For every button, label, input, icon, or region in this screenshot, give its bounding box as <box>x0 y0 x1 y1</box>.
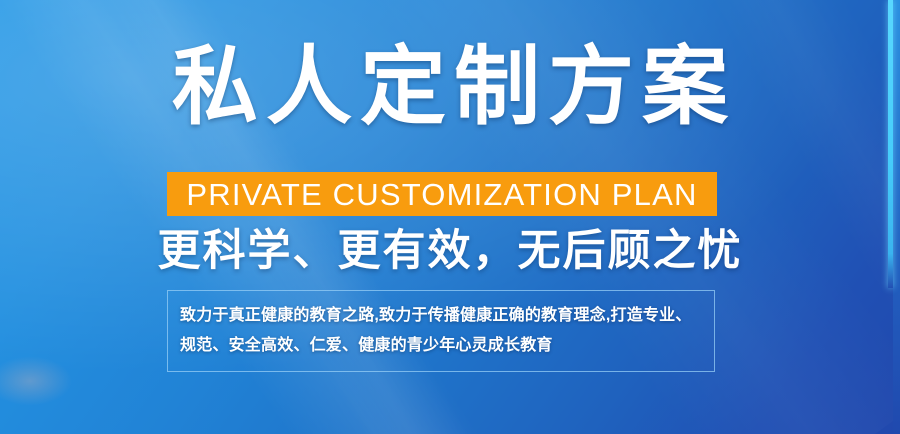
description-text: 致力于真正健康的教育之路,致力于传播健康正确的教育理念,打造专业、规范、安全高效… <box>168 301 714 361</box>
subtitle-english: PRIVATE CUSTOMIZATION PLAN <box>186 179 697 210</box>
tagline-chinese: 更科学、更有效，无后顾之忧 <box>0 228 900 275</box>
banner-content: 私人定制方案 PRIVATE CUSTOMIZATION PLAN 更科学、更有… <box>0 0 900 434</box>
subtitle-orange-band: PRIVATE CUSTOMIZATION PLAN <box>167 172 717 216</box>
headline-chinese: 私人定制方案 <box>0 44 900 130</box>
promo-banner: 私人定制方案 PRIVATE CUSTOMIZATION PLAN 更科学、更有… <box>0 0 900 434</box>
description-box: 致力于真正健康的教育之路,致力于传播健康正确的教育理念,打造专业、规范、安全高效… <box>167 290 715 372</box>
